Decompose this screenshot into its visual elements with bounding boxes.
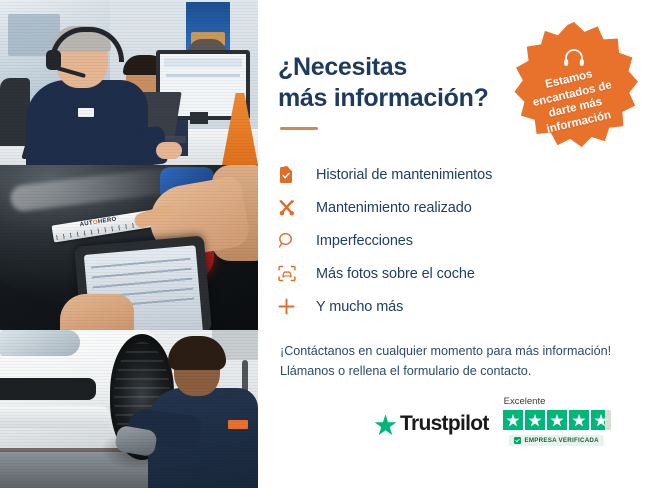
mechanic xyxy=(140,338,258,488)
tools-cross-icon xyxy=(278,199,304,217)
list-item-label: Historial de mantenimientos xyxy=(316,167,492,183)
document-check-icon xyxy=(278,166,304,184)
trustpilot-rating[interactable]: Trustpilot Excelente xyxy=(374,396,611,448)
title-divider xyxy=(280,127,318,130)
star-rating xyxy=(503,410,611,430)
car-grille xyxy=(0,378,96,400)
agent-name-badge xyxy=(78,108,94,117)
rating-block: Excelente xyxy=(503,396,611,448)
list-item-label: Imperfecciones xyxy=(316,233,413,249)
star-partial xyxy=(591,410,611,430)
trustpilot-wordmark: Trustpilot xyxy=(400,412,489,436)
agent-hand xyxy=(156,142,182,159)
photo-column: AUTOHERO xyxy=(0,0,258,488)
car-headlight xyxy=(0,330,80,356)
car-bumper xyxy=(0,406,110,428)
rating-label: Excelente xyxy=(503,396,611,407)
vehicle-inspection-photo: AUTOHERO xyxy=(0,165,258,330)
list-item: Y mucho más xyxy=(278,290,650,323)
star-filled xyxy=(547,410,567,430)
feature-list: Historial de mantenimientos Mantenimient… xyxy=(278,158,650,323)
contact-line-1: ¡Contáctanos en cualquier momento para m… xyxy=(280,344,611,358)
list-item: Historial de mantenimientos xyxy=(278,158,650,191)
call-center-agents-photo xyxy=(0,0,258,165)
monitor-screen-rows xyxy=(166,74,240,78)
status-badge: Estamos encantados de darte más informac… xyxy=(510,22,638,150)
monitor-stand xyxy=(190,112,208,124)
trustpilot-logo[interactable]: Trustpilot xyxy=(374,412,489,448)
page-title: ¿Necesitas más información? xyxy=(278,52,518,113)
headline-line-1: ¿Necesitas xyxy=(278,53,407,81)
inspector-second-hand xyxy=(60,294,134,330)
list-item: Imperfecciones xyxy=(278,224,650,257)
list-item-label: Más fotos sobre el coche xyxy=(316,266,475,282)
contact-info-banner: AUTOHERO xyxy=(0,0,650,488)
verified-badge: EMPRESA VERIFICADA xyxy=(509,435,603,446)
verified-label: EMPRESA VERIFICADA xyxy=(524,437,598,444)
car-scan-icon xyxy=(278,265,304,282)
monitor-screen-header xyxy=(164,58,242,67)
plus-icon xyxy=(278,298,304,315)
foreground-agent xyxy=(26,30,148,165)
mechanic-wheel-photo xyxy=(0,330,258,488)
content-panel: ¿Necesitas más información? Estamos enca… xyxy=(258,0,650,488)
contact-line-2: Llámanos o rellena el formulario de cont… xyxy=(280,364,531,378)
list-item: Mantenimiento realizado xyxy=(278,191,650,224)
star-filled xyxy=(503,410,523,430)
star-filled xyxy=(525,410,545,430)
headline-line-2: más información? xyxy=(278,83,518,114)
trustpilot-star-icon xyxy=(374,413,397,436)
mechanic-uniform-logo xyxy=(228,420,248,429)
list-item-label: Mantenimiento realizado xyxy=(316,200,472,216)
list-item-label: Y mucho más xyxy=(316,299,403,315)
magnifier-icon xyxy=(278,232,304,249)
check-icon xyxy=(514,437,521,444)
contact-paragraph: ¡Contáctanos en cualquier momento para m… xyxy=(280,341,630,382)
badge-label: Estamos encantados de darte más informac… xyxy=(505,58,643,144)
mechanic-hair xyxy=(168,336,226,370)
list-item: Más fotos sobre el coche xyxy=(278,257,650,290)
star-filled xyxy=(569,410,589,430)
